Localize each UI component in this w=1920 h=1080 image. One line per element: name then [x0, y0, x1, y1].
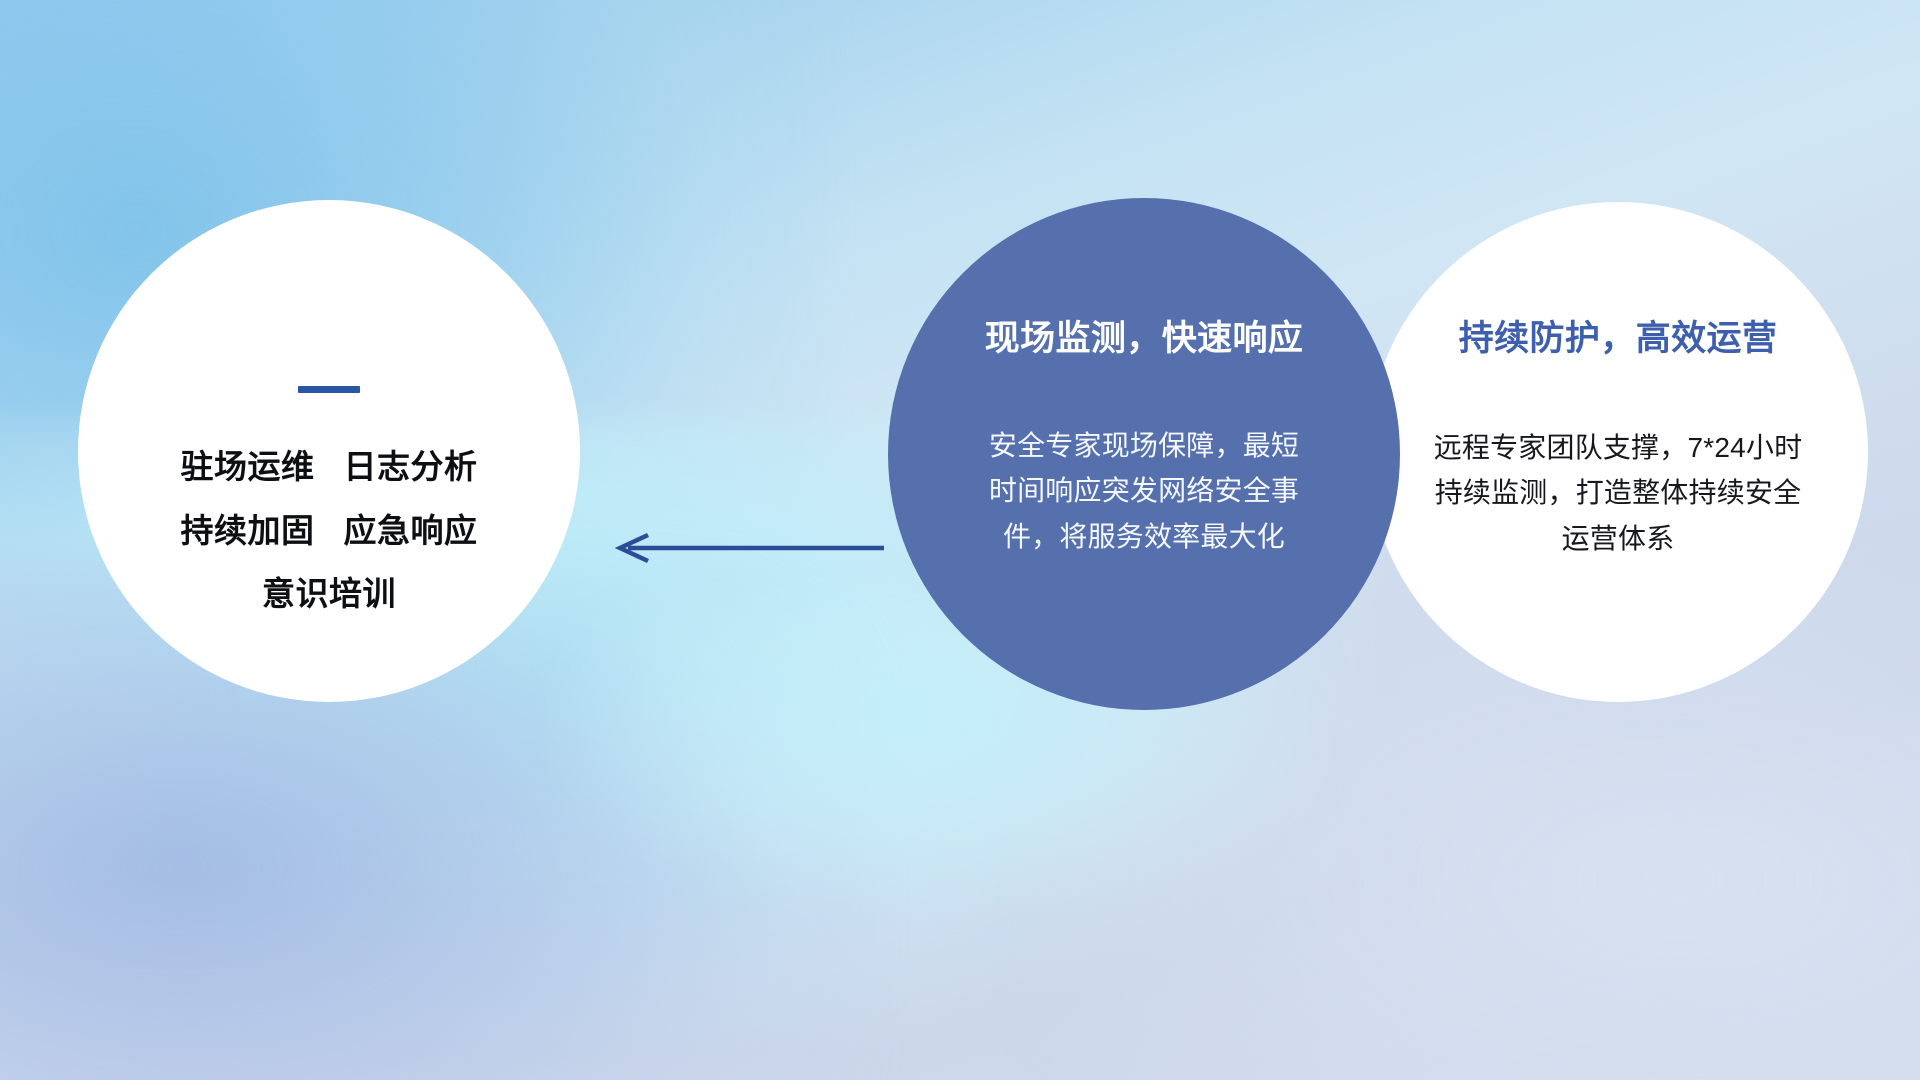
- continuous-protection-body: 远程专家团队支撑，7*24小时持续监测，打造整体持续安全运营体系: [1433, 425, 1803, 561]
- onsite-monitoring-body: 安全专家现场保障，最短时间响应突发网络安全事件，将服务效率最大化: [979, 423, 1309, 559]
- onsite-monitoring-circle[interactable]: 现场监测，快速响应 安全专家现场保障，最短时间响应突发网络安全事件，将服务效率最…: [888, 198, 1400, 710]
- capability-line-3: 意识培训: [78, 562, 580, 626]
- onsite-monitoring-title: 现场监测，快速响应: [985, 310, 1304, 361]
- slide-canvas: 驻场运维 日志分析 持续加固 应急响应 意识培训 现场监测，快速响应 安全专家现…: [0, 0, 1920, 1080]
- capability-line-1: 驻场运维 日志分析: [78, 435, 580, 499]
- accent-dash-icon: [298, 386, 360, 393]
- capability-circle-left[interactable]: 驻场运维 日志分析 持续加固 应急响应 意识培训: [78, 200, 580, 702]
- capability-line-2: 持续加固 应急响应: [78, 499, 580, 563]
- continuous-protection-title: 持续防护，高效运营: [1459, 310, 1778, 361]
- capability-list: 驻场运维 日志分析 持续加固 应急响应 意识培训: [78, 435, 580, 626]
- continuous-protection-circle[interactable]: 持续防护，高效运营 远程专家团队支撑，7*24小时持续监测，打造整体持续安全运营…: [1368, 202, 1868, 702]
